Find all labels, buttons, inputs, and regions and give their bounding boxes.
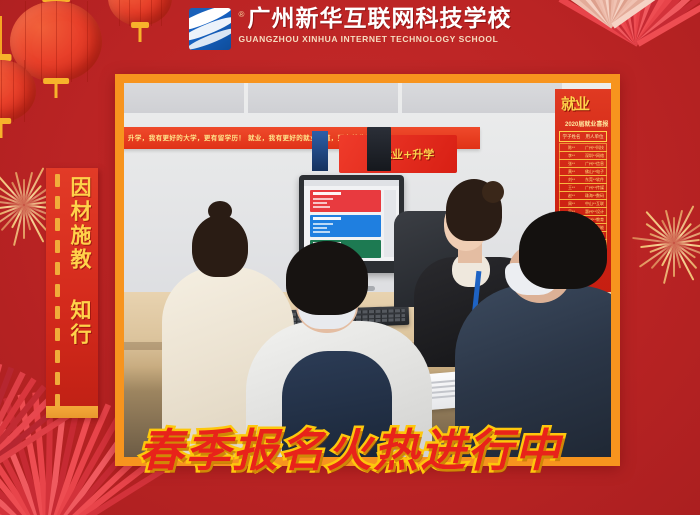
side-banner-dash (55, 262, 60, 275)
photo-frame: 升学，我有更好的大学，更有留学历！ 就业，我有更好的就业渠道，更有就业保障 就业… (115, 74, 620, 466)
employment-poster-col-header: 学子姓名 (560, 132, 583, 141)
side-banner-dash (55, 218, 60, 231)
firework-ray (673, 210, 683, 243)
employment-poster-header: 学子姓名用人单位 (559, 131, 607, 142)
firework-ray (13, 205, 25, 246)
fan-blade (0, 371, 26, 481)
employment-poster-cell: 周** (560, 200, 583, 207)
firework-ray (661, 243, 675, 267)
firework-ray (23, 185, 42, 206)
employment-poster-cell: 中山**互联网公司 (583, 200, 606, 207)
employment-poster-cell: 赵** (560, 192, 583, 199)
firework-ray (673, 243, 681, 269)
firework-ray (0, 204, 24, 210)
side-banner-dash (55, 394, 60, 407)
photo-content: 升学，我有更好的大学，更有留学历！ 就业，我有更好的就业渠道，更有就业保障 就业… (124, 83, 611, 457)
employment-poster-cell: 刘** (560, 176, 583, 183)
fan-blade (45, 403, 111, 515)
employment-poster-title: 就业 (561, 93, 589, 114)
lantern-rib (1, 60, 2, 122)
screen-card-blue (310, 215, 381, 237)
firework-decoration-right (628, 198, 700, 288)
fan-blade (0, 444, 50, 515)
visitor-man-right (469, 211, 611, 457)
employment-poster-cell: 佛山**电子商务公司 (583, 168, 606, 175)
firework-ray (639, 242, 675, 268)
fan-blade (0, 412, 71, 482)
lantern-tassel (0, 124, 3, 138)
side-banner-dash (55, 174, 60, 187)
firework-ray (663, 243, 675, 284)
firework-ray (673, 243, 694, 281)
school-name-cn: 广州新华互联网科技学校 (247, 8, 511, 31)
employment-poster-cell: 陈** (560, 144, 583, 151)
employment-poster-cell: 深圳**网络有限公司 (583, 152, 606, 159)
side-banner-dash (55, 240, 60, 253)
wall-panel-left (124, 83, 244, 113)
firework-ray (674, 242, 700, 248)
firework-ray (640, 242, 674, 248)
employment-poster-year: 2020届就业喜报 (565, 119, 608, 128)
firework-ray (651, 242, 675, 269)
firework-ray (649, 233, 674, 244)
employment-poster-cell: 王** (560, 184, 583, 191)
firework-ray (23, 205, 25, 239)
firework-ray (11, 205, 25, 229)
firework-ray (0, 199, 24, 206)
screen-card-red (310, 190, 381, 212)
registered-trademark-icon: ® (239, 11, 245, 19)
firework-ray (23, 167, 44, 205)
fan-blade (0, 469, 49, 515)
firework-ray (645, 223, 674, 244)
employment-poster-col-header: 用人单位 (583, 132, 606, 141)
fan-blade (0, 408, 51, 515)
brand-lockup: ® 广州新华互联网科技学校 GUANGZHOU XINHUA INTERNET … (189, 8, 512, 50)
lantern-tassel (55, 84, 58, 98)
employment-poster-cell: 广州**传媒有限公司 (583, 184, 606, 191)
employment-poster-cell: 广州**信息技术公司 (583, 160, 606, 167)
fan-blade (46, 460, 176, 515)
firework-ray (674, 227, 700, 244)
side-banner-text: 因材施教 知行 (66, 176, 92, 347)
student-boy-center (262, 241, 412, 456)
employment-poster-cell: 珠海**数码科技公司 (583, 192, 606, 199)
firework-ray (23, 205, 44, 243)
lantern-rib (24, 60, 25, 122)
firework-ray (673, 223, 700, 244)
firework-ray (673, 243, 675, 277)
dark-book (367, 127, 391, 171)
side-banner-dash (55, 350, 60, 363)
wall-panel-mid (248, 83, 398, 113)
fan-blade (0, 385, 47, 482)
firework-ray (673, 223, 692, 244)
firework-ray (23, 179, 25, 205)
lantern-body (0, 60, 36, 122)
employment-poster-cell: 广州**科技有限公司 (583, 144, 606, 151)
fan-blade (3, 397, 51, 515)
side-banner-dash (55, 284, 60, 297)
side-banner-tail (46, 406, 98, 418)
side-banner-dash (55, 328, 60, 341)
fan-blade (0, 363, 2, 481)
firework-ray (649, 242, 674, 253)
fan-blade (0, 434, 50, 515)
fan-blade (0, 415, 51, 515)
firework-ray (23, 172, 33, 205)
firework-ray (673, 205, 694, 243)
lantern-rib (13, 60, 14, 122)
firework-ray (1, 204, 25, 231)
firework-ray (674, 239, 700, 244)
header-brand-bar: ® 广州新华互联网科技学校 GUANGZHOU XINHUA INTERNET … (0, 0, 700, 58)
firework-ray (673, 217, 675, 243)
fan-blade (0, 402, 51, 515)
firework-ray (0, 195, 24, 206)
firework-ray (0, 185, 25, 206)
fan-blade (0, 377, 37, 481)
firework-ray (15, 172, 25, 205)
firework-ray (645, 211, 674, 244)
fan-blade (0, 367, 14, 481)
side-banner-dash (55, 196, 60, 209)
firework-ray (23, 205, 31, 231)
wall-panel-right (402, 83, 562, 113)
fan-blade (0, 456, 50, 515)
fan-blade (45, 410, 124, 515)
firework-ray (673, 242, 697, 269)
side-banner-dash (55, 372, 60, 385)
firework-ray (0, 204, 24, 215)
firework-ray (665, 210, 675, 243)
firework-ray (661, 220, 675, 244)
xinhua-logo-mark (189, 8, 231, 50)
school-name-en: GUANGZHOU XINHUA INTERNET TECHNOLOGY SCH… (239, 35, 499, 44)
firework-ray (632, 237, 674, 244)
firework-ray (23, 204, 47, 231)
employment-poster-cell: 张** (560, 160, 583, 167)
firework-ray (11, 182, 25, 206)
firework-ray (0, 204, 25, 230)
spring-enrollment-poster: ® 广州新华互联网科技学校 GUANGZHOU XINHUA INTERNET … (0, 0, 700, 515)
side-banner: 因材施教 知行 (46, 168, 98, 418)
firework-ray (0, 173, 25, 206)
firework-ray (673, 242, 696, 258)
wall-poster-small: 就业+升学 (339, 135, 457, 173)
employment-poster-cell: 黄** (560, 168, 583, 175)
brand-text-block: ® 广州新华互联网科技学校 GUANGZHOU XINHUA INTERNET … (239, 8, 512, 44)
firework-ray (23, 204, 46, 220)
book-stack (312, 131, 328, 171)
firework-ray (674, 242, 700, 259)
side-banner-dash (55, 306, 60, 319)
employment-poster-cell: 东莞**软件开发公司 (583, 176, 606, 183)
employment-poster-cell: 李** (560, 152, 583, 159)
fan-blade (0, 424, 50, 515)
